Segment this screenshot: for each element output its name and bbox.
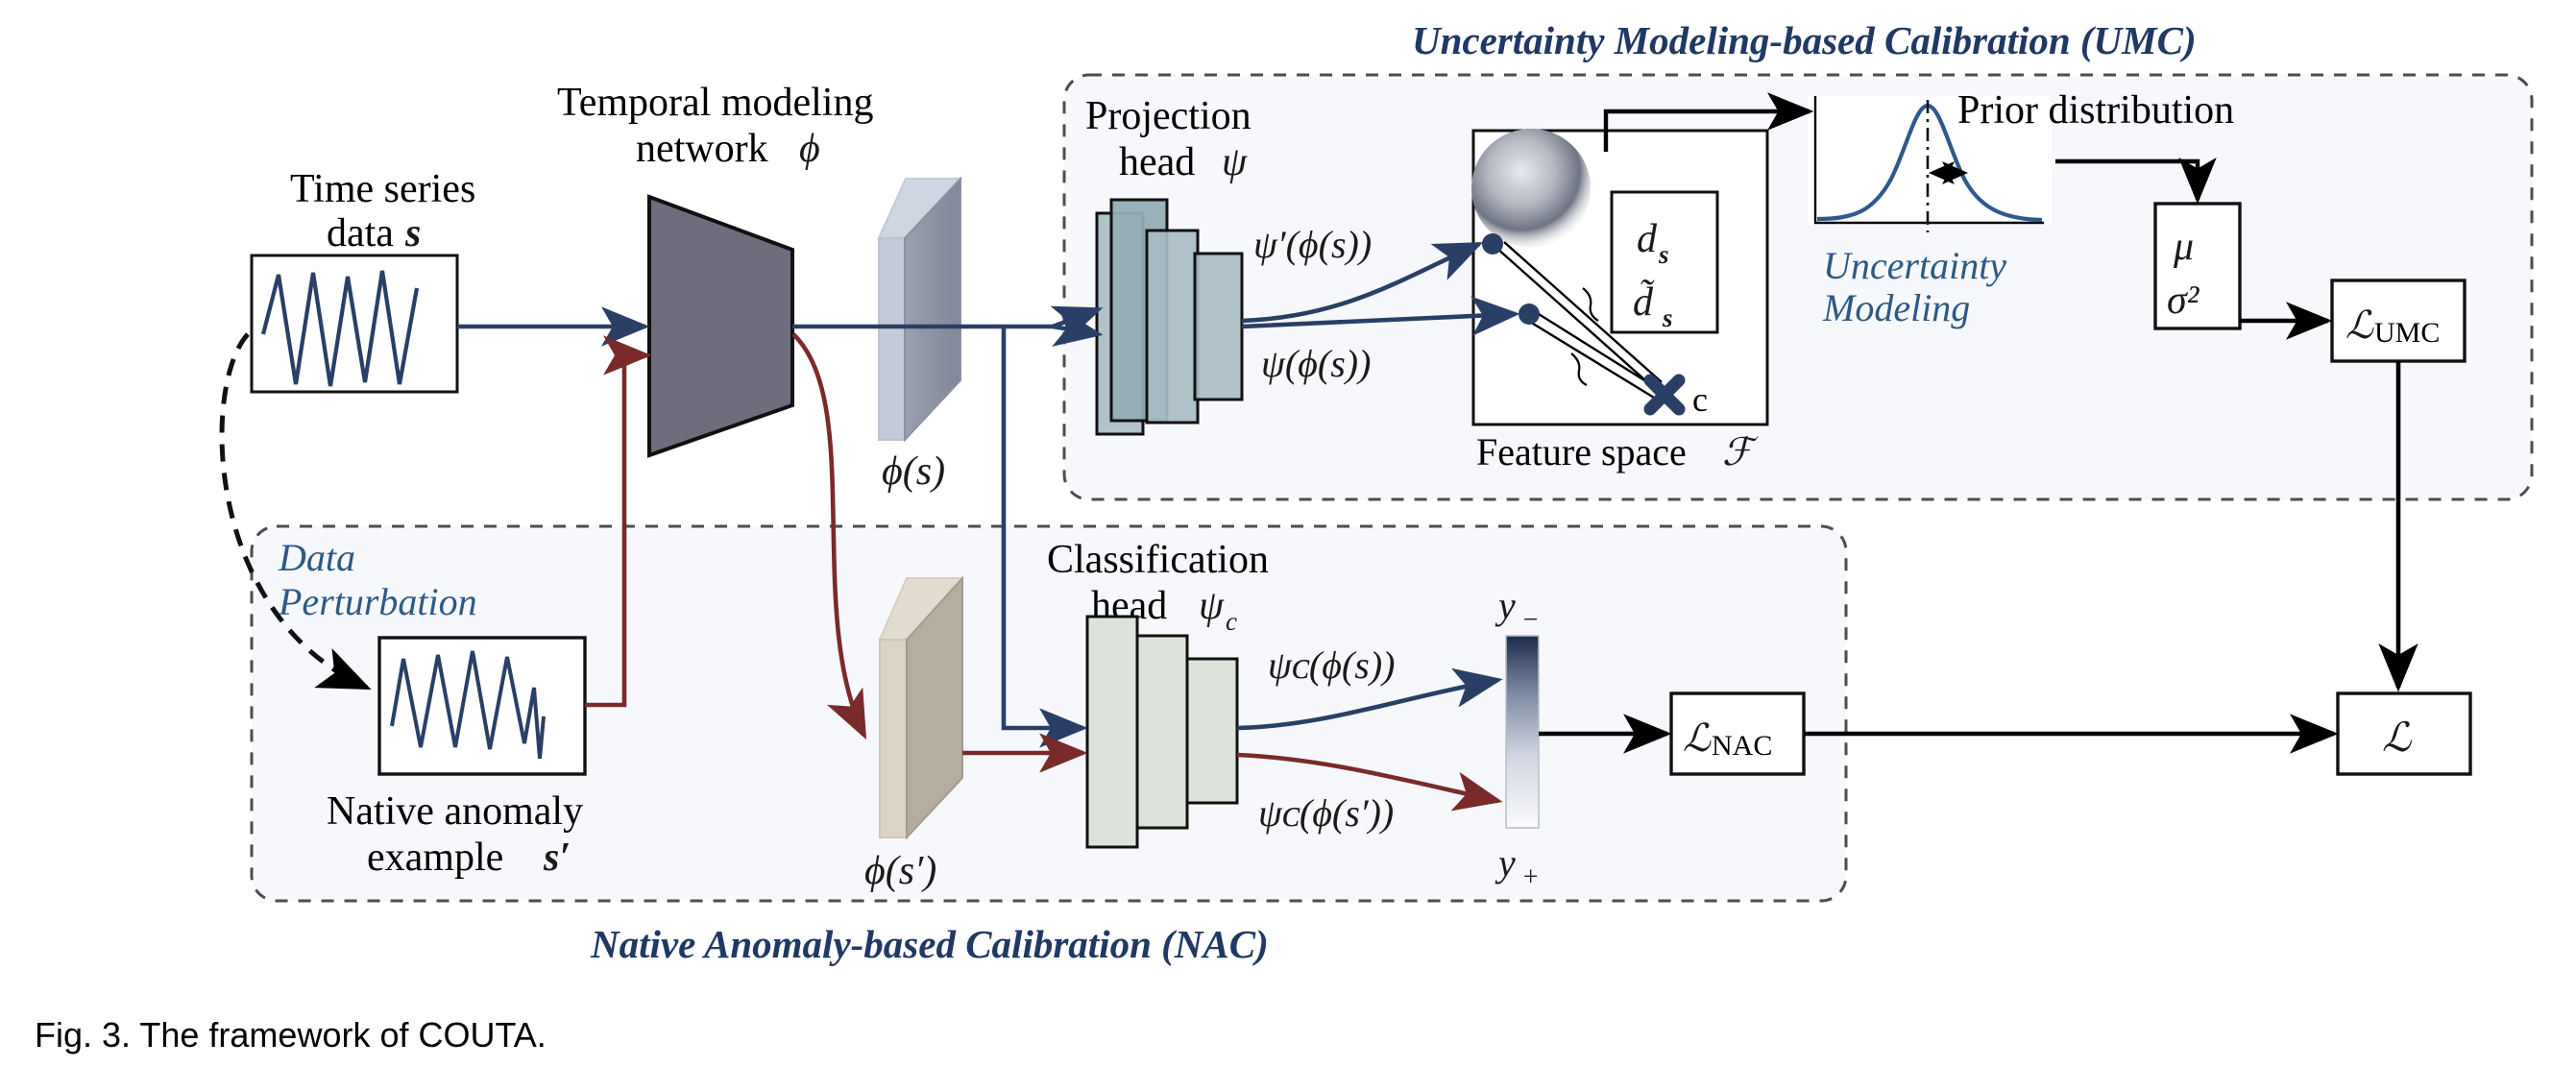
classification-head-layer-2 — [1137, 636, 1187, 828]
psi-c-phi-s-label: ψᴄ(ϕ(s)) — [1268, 643, 1395, 687]
feature-space: c Feature space ℱ d s d̃ s — [1471, 129, 1767, 473]
nac-panel-title: Native Anomaly-based Calibration (NAC) — [590, 922, 1269, 966]
feature-sphere — [1471, 129, 1591, 248]
y-plus-subscript: + — [1521, 862, 1540, 892]
classification-head-label-line1: Classification — [1047, 538, 1269, 582]
phi-s-label: ϕ(s) — [882, 449, 945, 494]
native-anomaly-symbol: s′ — [543, 836, 571, 880]
mu-label: μ — [2173, 225, 2194, 269]
phi-sp-slab-edge — [880, 640, 907, 837]
y-plus-label: y — [1495, 841, 1516, 885]
classification-head-symbol: ψ — [1199, 584, 1225, 628]
mu-sigma-box: μ σ² — [2155, 204, 2240, 328]
y-minus-subscript: − — [1521, 605, 1540, 635]
prior-distribution-label: Prior distribution — [1957, 88, 2234, 133]
native-anomaly-label-line2: example — [367, 836, 503, 880]
time-series-label-line2: data — [327, 211, 394, 255]
loss-nac-box: ℒ NAC — [1671, 693, 1804, 774]
temporal-net-label-line1: Temporal modeling — [557, 81, 873, 125]
figure-root: Uncertainty Modeling-based Calibration (… — [0, 0, 2576, 1091]
distance-dtilde-subscript: s — [1662, 303, 1673, 332]
distance-dtilde-label: d̃ — [1633, 279, 1655, 325]
psi-c-phi-s-prime-label: ψᴄ(ϕ(s′)) — [1258, 791, 1394, 835]
uncertainty-modeling-label-line1: Uncertainty — [1823, 244, 2006, 287]
temporal-net-symbol: ϕ — [799, 127, 820, 171]
psi-phi-s-label: ψ(ϕ(s)) — [1261, 342, 1371, 385]
classification-head-symbol-sub: c — [1226, 607, 1237, 636]
umc-panel-border — [1064, 75, 2532, 499]
loss-umc-box: ℒ UMC — [2332, 280, 2465, 361]
prediction-gradient-bar — [1506, 636, 1539, 828]
classification-head-layer-3 — [1187, 659, 1237, 803]
feature-center-label: c — [1692, 380, 1708, 419]
figure-caption: Fig. 3. The framework of COUTA. — [35, 1015, 547, 1055]
projection-head-label-line2: head — [1119, 140, 1195, 184]
projection-head-layer-3 — [1147, 230, 1198, 423]
phi-s-slab-edge — [879, 238, 905, 440]
loss-total-label: ℒ — [2382, 716, 2412, 761]
uncertainty-modeling-label-line2: Modeling — [1822, 286, 1970, 329]
projection-head-symbol: ψ — [1222, 140, 1248, 184]
time-series-label-line1: Time series — [290, 167, 475, 211]
y-minus-label: y — [1495, 584, 1516, 627]
loss-umc-script-l: ℒ — [2345, 303, 2374, 347]
feature-point-psi — [1519, 303, 1540, 325]
data-perturbation-label-line1: Data — [278, 536, 355, 579]
psi-prime-phi-s-label: ψ′(ϕ(s)) — [1253, 223, 1372, 266]
feature-point-psi-prime — [1482, 233, 1503, 255]
distance-d-subscript: s — [1658, 240, 1669, 269]
loss-umc-subscript: UMC — [2374, 317, 2440, 349]
loss-total-box: ℒ — [2338, 693, 2470, 774]
phi-s-prime-label: ϕ(s′) — [864, 849, 936, 893]
projection-head-layer-4 — [1195, 254, 1242, 400]
time-series-symbol: s — [404, 211, 421, 255]
data-perturbation-label-line2: Perturbation — [278, 580, 477, 623]
classification-head-layer-1 — [1087, 617, 1137, 847]
loss-nac-subscript: NAC — [1712, 730, 1772, 762]
native-anomaly-label-line1: Native anomaly — [327, 789, 583, 834]
temporal-net-label-line2: network — [636, 127, 768, 171]
distance-d-label: d — [1637, 217, 1658, 261]
sigma2-label: σ² — [2167, 279, 2200, 323]
umc-panel-title: Uncertainty Modeling-based Calibration (… — [1412, 18, 2197, 62]
projection-head-label-line1: Projection — [1085, 94, 1252, 138]
feature-space-label: Feature space — [1476, 430, 1687, 473]
loss-nac-script-l: ℒ — [1683, 716, 1712, 760]
